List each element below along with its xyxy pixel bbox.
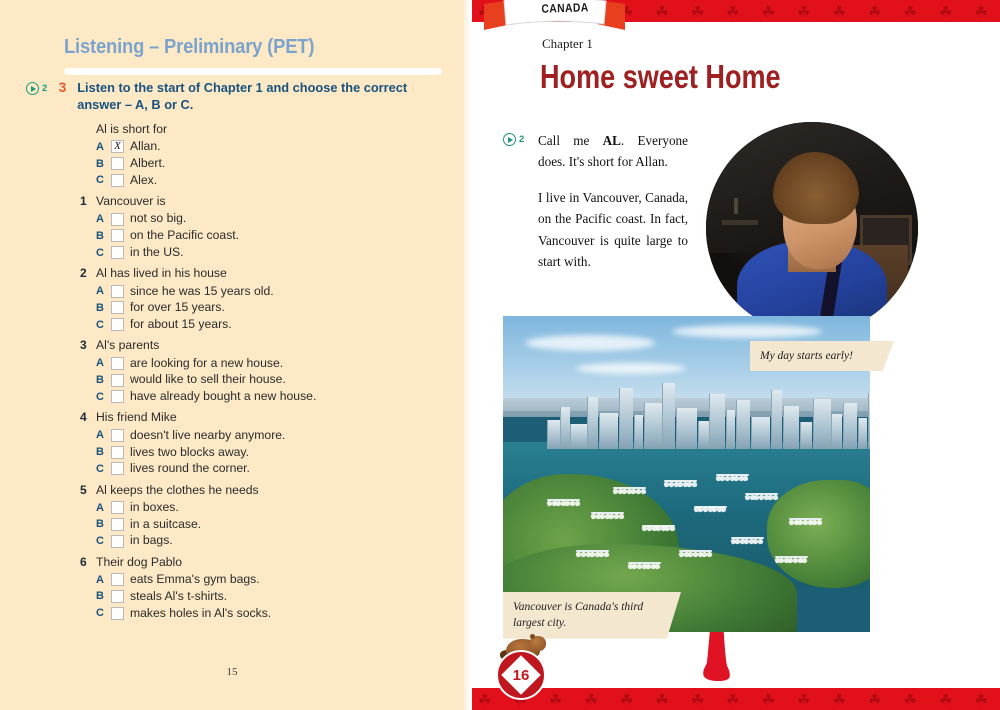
photo-cloud	[525, 335, 655, 351]
maple-leaf-icon: ☘	[903, 693, 916, 708]
option-text: makes holes in Al's socks.	[130, 606, 271, 621]
play-triangle-icon	[31, 86, 36, 92]
question-item: 1Vancouver isAnot so big.Bon the Pacific…	[80, 194, 450, 260]
option-row[interactable]: Chave already bought a new house.	[80, 389, 450, 404]
paragraph-lead: Call me	[538, 133, 603, 148]
option-text: in the US.	[130, 245, 184, 260]
question-item: 4His friend MikeAdoesn't live nearby any…	[80, 410, 450, 476]
maple-leaf-icon: ☘	[833, 693, 846, 708]
photo-building	[547, 420, 560, 449]
option-checkbox[interactable]	[111, 246, 124, 259]
option-text: for about 15 years.	[130, 317, 232, 332]
option-text: steals Al's t-shirts.	[130, 589, 227, 604]
photo-building	[644, 403, 662, 449]
option-text: doesn't live nearby anymore.	[130, 428, 285, 443]
option-checkbox[interactable]	[111, 446, 124, 459]
option-checkbox[interactable]: X	[111, 140, 124, 153]
task-instruction-row: 2 3 Listen to the start of Chapter 1 and…	[26, 80, 456, 114]
play-circle-icon[interactable]	[26, 82, 39, 95]
option-letter: C	[96, 319, 109, 331]
beaver-ear	[530, 634, 535, 639]
maple-leaf-icon: ☘	[868, 693, 881, 708]
option-checkbox[interactable]	[111, 607, 124, 620]
maple-leaf-icon: ☘	[797, 5, 810, 20]
option-letter: C	[96, 607, 109, 619]
option-letter: C	[96, 535, 109, 547]
question-number: 1	[80, 194, 96, 210]
photo-building	[831, 414, 842, 449]
option-letter: B	[96, 230, 109, 242]
option-letter: A	[96, 429, 109, 441]
question-item: 2Al has lived in his houseAsince he was …	[80, 266, 450, 332]
maple-leaf-icon: ☘	[868, 5, 881, 20]
maple-leaf-icon: ☘	[691, 5, 704, 20]
maple-leaf-icon: ☘	[655, 5, 668, 20]
option-checkbox[interactable]	[111, 429, 124, 442]
option-text: Allan.	[130, 139, 161, 154]
option-text: eats Emma's gym bags.	[130, 572, 260, 587]
maple-leaf-icon: ☘	[620, 693, 633, 708]
option-letter: A	[96, 502, 109, 514]
paragraph-bold-name: AL	[603, 133, 621, 148]
caption-portrait: My day starts early!	[750, 341, 894, 371]
photo-building	[800, 422, 813, 448]
photo-building	[619, 388, 633, 449]
option-row[interactable]: Aeats Emma's gym bags.	[80, 572, 450, 587]
option-checkbox[interactable]	[111, 174, 124, 187]
title-underline-rule	[64, 68, 442, 75]
option-letter: A	[96, 141, 109, 153]
portrait-photo	[706, 122, 918, 334]
question-item: 6Their dog PabloAeats Emma's gym bags.Bs…	[80, 555, 450, 621]
option-row[interactable]: Adoesn't live nearby anymore.	[80, 428, 450, 443]
maple-leaf-icon: ☘	[833, 5, 846, 20]
option-checkbox[interactable]	[111, 213, 124, 226]
option-checkbox[interactable]	[111, 501, 124, 514]
photo-building	[868, 393, 870, 449]
option-row[interactable]: A X Allan.	[80, 139, 450, 154]
option-checkbox[interactable]	[111, 518, 124, 531]
maple-leaf-icon: ☘	[655, 693, 668, 708]
option-checkbox[interactable]	[111, 301, 124, 314]
option-row[interactable]: Bfor over 15 years.	[80, 300, 450, 315]
option-text: in bags.	[130, 533, 173, 548]
photo-building	[771, 390, 782, 448]
chapter-title: Home sweet Home	[540, 58, 781, 96]
option-letter: B	[96, 590, 109, 602]
option-text: Albert.	[130, 156, 165, 171]
question-item: 5Al keeps the clothes he needsAin boxes.…	[80, 483, 450, 549]
audio-track-chip-right[interactable]: 2	[503, 133, 524, 146]
photo-building	[662, 383, 675, 449]
question-stem: Al keeps the clothes he needs	[96, 483, 259, 499]
photo-building	[709, 394, 725, 448]
option-letter: B	[96, 158, 109, 170]
question-item: 3Al's parentsAare looking for a new hous…	[80, 338, 450, 404]
maple-leaf-icon: ☘	[584, 693, 597, 708]
option-letter: B	[96, 374, 109, 386]
maple-leaf-icon: ☘	[903, 5, 916, 20]
option-row[interactable]: Cin the US.	[80, 245, 450, 260]
photo-building	[570, 424, 586, 448]
option-row[interactable]: Cmakes holes in Al's socks.	[80, 606, 450, 621]
maple-leaf-icon: ☘	[974, 693, 987, 708]
story-body: Call me AL. Everyone does. It's short fo…	[538, 130, 688, 286]
option-text: would like to sell their house.	[130, 372, 286, 387]
portrait-shelf	[722, 220, 758, 225]
option-text: in a suitcase.	[130, 517, 201, 532]
question-number: 5	[80, 483, 96, 499]
option-row[interactable]: Aare looking for a new house.	[80, 356, 450, 371]
maple-leaf-icon: ☘	[939, 5, 952, 20]
numbered-questions: 1Vancouver isAnot so big.Bon the Pacific…	[80, 194, 450, 621]
question-stem: Their dog Pablo	[96, 555, 182, 571]
option-text: on the Pacific coast.	[130, 228, 239, 243]
textbook-spread: Listening – Preliminary (PET) 2 3 Listen…	[0, 0, 1000, 710]
option-letter: B	[96, 302, 109, 314]
page-title: Listening – Preliminary (PET)	[64, 36, 314, 59]
option-text: lives round the corner.	[130, 461, 250, 476]
photo-building	[843, 403, 857, 449]
audio-track-number: 2	[42, 83, 47, 94]
photo-boat	[640, 488, 646, 494]
option-letter: C	[96, 174, 109, 186]
page-number-left: 15	[0, 666, 464, 678]
option-checkbox[interactable]	[111, 318, 124, 331]
right-page-reader: 🍁 ☘☘☘☘☘☘☘☘☘☘☘☘☘☘☘☘ CANADA Chapter 1 Home…	[472, 0, 1000, 710]
photo-building	[783, 406, 799, 449]
option-row[interactable]: Anot so big.	[80, 211, 450, 226]
option-letter: C	[96, 463, 109, 475]
option-text: lives two blocks away.	[130, 445, 249, 460]
photo-skyline	[547, 379, 870, 449]
audio-track-number: 2	[519, 134, 524, 145]
maple-leaf-icon: ☘	[939, 693, 952, 708]
question-head: 2Al has lived in his house	[80, 266, 450, 282]
question-stem: Al's parents	[96, 338, 159, 354]
option-checkbox[interactable]	[111, 462, 124, 475]
option-row[interactable]: Clives round the corner.	[80, 461, 450, 476]
option-letter: C	[96, 391, 109, 403]
option-checkbox[interactable]	[111, 374, 124, 387]
left-page-worksheet: Listening – Preliminary (PET) 2 3 Listen…	[0, 0, 472, 710]
play-circle-icon[interactable]	[503, 133, 516, 146]
canada-ribbon: CANADA	[482, 0, 627, 38]
maple-leaf-icon: ☘	[762, 693, 775, 708]
option-checkbox[interactable]	[111, 590, 124, 603]
option-text: have already bought a new house.	[130, 389, 316, 404]
photo-boat	[706, 551, 712, 557]
task-number: 3	[59, 80, 73, 95]
question-head: 6Their dog Pablo	[80, 555, 450, 571]
option-checkbox[interactable]	[111, 535, 124, 548]
maple-leaf-icon: ☘	[974, 5, 987, 20]
option-row[interactable]: B Albert.	[80, 156, 450, 171]
photo-building	[587, 397, 598, 448]
option-row[interactable]: Cin bags.	[80, 533, 450, 548]
ribbon-label: CANADA	[526, 0, 604, 16]
option-letter: A	[96, 285, 109, 297]
option-letter: A	[96, 357, 109, 369]
maple-leaf-icon: ☘	[726, 5, 739, 20]
maple-leaf-icon: ☘	[797, 693, 810, 708]
option-row[interactable]: Bin a suitcase.	[80, 517, 450, 532]
photo-building	[813, 399, 831, 449]
maple-leaf-icon: ☘	[691, 693, 704, 708]
photo-building	[599, 413, 618, 449]
question-head: 3Al's parents	[80, 338, 450, 354]
chapter-label: Chapter 1	[542, 36, 593, 52]
question-number: 2	[80, 266, 96, 282]
option-letter: C	[96, 247, 109, 259]
option-row[interactable]: C Alex.	[80, 173, 450, 188]
photo-building	[698, 421, 709, 449]
option-checkbox[interactable]	[111, 357, 124, 370]
option-row[interactable]: Ain boxes.	[80, 500, 450, 515]
example-question: Al is short for A X Allan. B Albert. C	[80, 122, 450, 188]
question-stem: Vancouver is	[96, 194, 166, 210]
questions-list: Al is short for A X Allan. B Albert. C	[80, 122, 450, 627]
option-checkbox[interactable]	[111, 229, 124, 242]
option-checkbox[interactable]	[111, 573, 124, 586]
question-stem: Al has lived in his house	[96, 266, 227, 282]
option-text: are looking for a new house.	[130, 356, 283, 371]
option-row[interactable]: Cfor about 15 years.	[80, 317, 450, 332]
page-number-badge: 16	[484, 630, 558, 704]
photo-building	[751, 417, 770, 449]
question-head: 1Vancouver is	[80, 194, 450, 210]
question-number: 3	[80, 338, 96, 354]
option-row[interactable]: Bon the Pacific coast.	[80, 228, 450, 243]
question-number: 4	[80, 410, 96, 426]
option-row[interactable]: Bwould like to sell their house.	[80, 372, 450, 387]
option-letter: B	[96, 446, 109, 458]
checkbox-x-mark: X	[112, 139, 123, 154]
photo-building	[560, 407, 569, 449]
option-checkbox[interactable]	[111, 390, 124, 403]
photo-building	[676, 408, 697, 448]
option-letter: A	[96, 574, 109, 586]
option-row[interactable]: Asince he was 15 years old.	[80, 284, 450, 299]
option-checkbox[interactable]	[111, 157, 124, 170]
page-gutter	[464, 0, 472, 710]
option-row[interactable]: Blives two blocks away.	[80, 445, 450, 460]
story-paragraph-2: I live in Vancouver, Canada, on the Paci…	[538, 187, 688, 273]
photo-building	[736, 400, 750, 449]
example-stem: Al is short for	[80, 122, 450, 138]
option-letter: A	[96, 213, 109, 225]
option-text: in boxes.	[130, 500, 179, 515]
photo-building	[634, 415, 643, 448]
option-text: not so big.	[130, 211, 186, 226]
question-number: 6	[80, 555, 96, 571]
maple-leaf-icon: ☘	[762, 5, 775, 20]
photo-building	[726, 410, 735, 448]
audio-track-chip[interactable]: 2	[26, 82, 47, 95]
story-paragraph-1: Call me AL. Everyone does. It's short fo…	[538, 130, 688, 173]
option-text: since he was 15 years old.	[130, 284, 274, 299]
portrait-lamp	[734, 198, 738, 214]
option-checkbox[interactable]	[111, 285, 124, 298]
maple-leaf-icon: ☘	[726, 693, 739, 708]
option-row[interactable]: Bsteals Al's t-shirts.	[80, 589, 450, 604]
option-text: for over 15 years.	[130, 300, 225, 315]
option-letter: B	[96, 518, 109, 530]
question-stem: His friend Mike	[96, 410, 177, 426]
play-triangle-icon	[508, 137, 513, 143]
task-instruction: Listen to the start of Chapter 1 and cho…	[77, 80, 427, 114]
question-head: 5Al keeps the clothes he needs	[80, 483, 450, 499]
photo-building	[858, 418, 867, 449]
option-text: Alex.	[130, 173, 157, 188]
page-number-right: 16	[496, 650, 546, 700]
question-head: 4His friend Mike	[80, 410, 450, 426]
